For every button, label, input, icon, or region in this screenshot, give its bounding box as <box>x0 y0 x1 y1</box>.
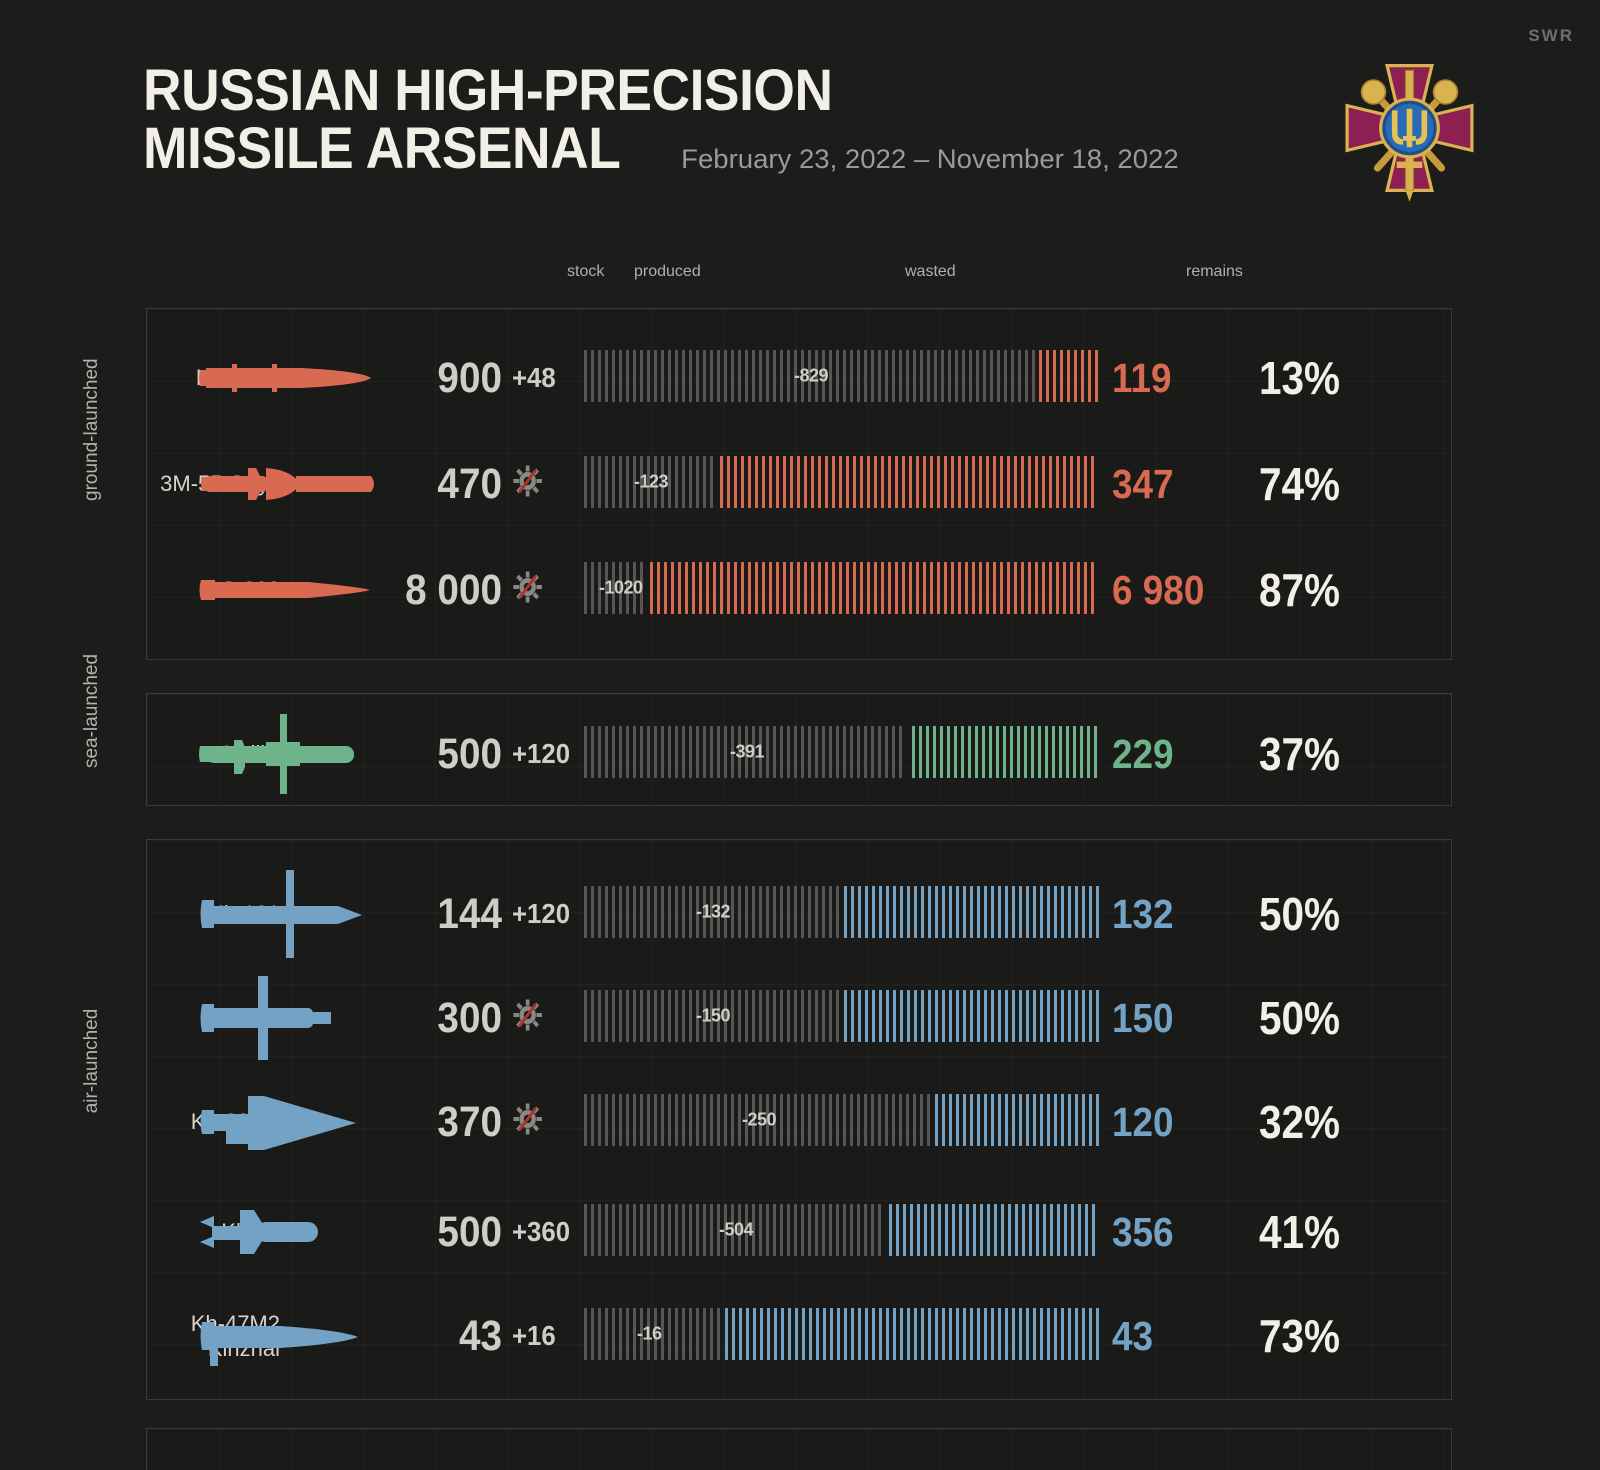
missile-row: 3M-55 Onyx 470 <box>0 438 1600 530</box>
column-header-wasted: wasted <box>905 263 956 281</box>
wasted-value-label: -132 <box>696 902 730 923</box>
missile-silhouette-icon <box>196 332 386 424</box>
missile-row: Kh-22/32 370 <box>0 1076 1600 1168</box>
wasted-value-label: -150 <box>696 1006 730 1027</box>
remains-bar-segment <box>650 562 1104 614</box>
wasted-remains-bar: -250 <box>584 1094 1104 1150</box>
missile-row: Kh-47M2Kinzhal 43 +16 -16 43 73% <box>0 1290 1600 1382</box>
header: RUSSIAN HIGH-PRECISION MISSILE ARSENAL F… <box>143 62 1263 178</box>
percent-remaining-value: 32% <box>1217 1095 1340 1149</box>
remains-value: 356 <box>1112 1209 1229 1256</box>
wasted-value-label: -16 <box>637 1324 662 1345</box>
wasted-value-label: -391 <box>730 742 764 763</box>
percent-remaining-value: 87% <box>1217 563 1340 617</box>
ukraine-armed-forces-emblem-icon <box>1327 48 1492 208</box>
no-production-gear-off-icon <box>512 1111 543 1142</box>
missile-kh2232-icon <box>196 1078 376 1166</box>
missile-row: Kh-35 500 +360 -504 356 <box>0 1186 1600 1278</box>
missile-kalibr-icon <box>196 710 376 798</box>
column-header-produced: produced <box>634 263 701 281</box>
stock-value: 370 <box>383 1098 502 1147</box>
wasted-value-label: -829 <box>794 366 828 387</box>
percent-remaining-value: 37% <box>1217 727 1340 781</box>
missile-kinzhal-icon <box>196 1292 376 1380</box>
percent-remaining-value: 50% <box>1217 887 1340 941</box>
wasted-remains-bar: -132 <box>584 886 1104 942</box>
wasted-remains-bar: -1020 <box>584 562 1104 618</box>
stock-value: 43 <box>383 1312 502 1361</box>
remains-bar-segment <box>889 1204 1104 1256</box>
no-production-gear-off-icon <box>512 473 543 504</box>
missile-row: Kh-101 144 +120 -132 132 <box>0 868 1600 960</box>
remains-bar-segment <box>720 456 1104 508</box>
wasted-value-label: -250 <box>742 1110 776 1131</box>
missile-silhouette-icon <box>196 1076 386 1168</box>
missile-row: Iskander 900 +48 -829 119 13% <box>0 332 1600 424</box>
column-header-stock: stock <box>567 263 604 281</box>
wasted-value-label: -1020 <box>599 578 643 599</box>
wasted-value-label: -123 <box>634 472 668 493</box>
page-title-line2: MISSILE ARSENAL <box>143 120 620 178</box>
wasted-remains-bar: -16 <box>584 1308 1104 1364</box>
column-headers: stock produced wasted remains <box>0 263 1600 287</box>
missile-silhouette-icon <box>196 1290 386 1382</box>
stock-value: 470 <box>383 460 502 509</box>
stock-value: 900 <box>383 354 502 403</box>
infographic-page: SWR RUSSIAN HIGH-PRECISION MISSILE ARSEN… <box>0 0 1600 1470</box>
remains-bar-segment <box>935 1094 1104 1146</box>
percent-remaining-value: 50% <box>1217 991 1340 1045</box>
missile-silhouette-icon <box>196 438 386 530</box>
missile-s300-icon <box>196 546 376 634</box>
remains-bar-segment <box>844 886 1104 938</box>
missile-onyx-icon <box>196 440 376 528</box>
wasted-remains-bar: -504 <box>584 1204 1104 1260</box>
missile-row: S-300 8 000 <box>0 544 1600 636</box>
missile-silhouette-icon <box>196 708 386 800</box>
remains-value: 120 <box>1112 1099 1229 1146</box>
remains-value: 43 <box>1112 1313 1229 1360</box>
remains-value: 6 980 <box>1112 567 1229 614</box>
group-panel-bottom-partial <box>146 1428 1452 1470</box>
missile-silhouette-icon <box>196 544 386 636</box>
remains-bar-segment <box>725 1308 1104 1360</box>
missile-silhouette-icon <box>196 972 386 1064</box>
missile-row: Kalibr 500 +120 -391 229 <box>0 708 1600 800</box>
stock-value: 8 000 <box>383 566 502 615</box>
percent-remaining-value: 73% <box>1217 1309 1340 1363</box>
date-range-subtitle: February 23, 2022 – November 18, 2022 <box>681 144 1179 175</box>
missile-silhouette-icon <box>196 1186 386 1278</box>
stock-value: 500 <box>383 730 502 779</box>
no-production-gear-off-icon <box>512 579 543 610</box>
missile-kh35-icon <box>196 1188 376 1276</box>
missile-iskander-icon <box>196 334 376 422</box>
missile-kh101-icon <box>196 870 376 958</box>
wasted-value-label: -504 <box>719 1220 753 1241</box>
swr-watermark: SWR <box>1528 26 1574 46</box>
percent-remaining-value: 74% <box>1217 457 1340 511</box>
wasted-remains-bar: -150 <box>584 990 1104 1046</box>
wasted-remains-bar: -391 <box>584 726 1104 782</box>
remains-bar-segment <box>912 726 1104 778</box>
stock-value: 144 <box>383 890 502 939</box>
remains-bar-segment <box>844 990 1104 1042</box>
stock-value: 300 <box>383 994 502 1043</box>
remains-value: 150 <box>1112 995 1229 1042</box>
remains-value: 347 <box>1112 461 1229 508</box>
no-production-gear-off-icon <box>512 1007 543 1038</box>
missile-row: Kh-555 300 <box>0 972 1600 1064</box>
percent-remaining-value: 13% <box>1217 351 1340 405</box>
remains-value: 119 <box>1112 355 1229 402</box>
missile-silhouette-icon <box>196 868 386 960</box>
column-header-remains: remains <box>1186 263 1243 281</box>
page-title-line1: RUSSIAN HIGH-PRECISION <box>143 62 1173 120</box>
remains-value: 229 <box>1112 731 1229 778</box>
percent-remaining-value: 41% <box>1217 1205 1340 1259</box>
remains-bar-segment <box>1039 350 1104 402</box>
stock-value: 500 <box>383 1208 502 1257</box>
missile-kh555-icon <box>196 974 376 1062</box>
remains-value: 132 <box>1112 891 1229 938</box>
wasted-remains-bar: -123 <box>584 456 1104 512</box>
wasted-remains-bar: -829 <box>584 350 1104 406</box>
